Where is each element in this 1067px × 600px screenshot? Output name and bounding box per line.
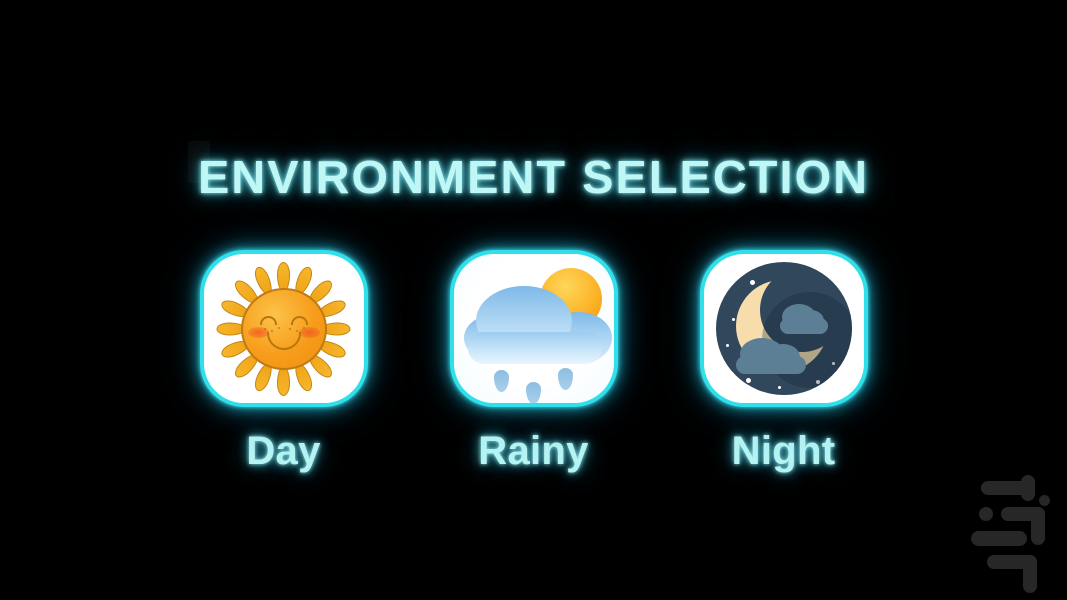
environment-selection-screen: ENVIRONMENT SELECTION	[0, 0, 1067, 600]
page-title: ENVIRONMENT SELECTION	[0, 150, 1067, 204]
sun-icon	[204, 254, 364, 403]
environment-option-rainy[interactable]: Rainy	[450, 250, 618, 474]
store-logo-watermark	[965, 475, 1057, 595]
day-tile-button[interactable]	[200, 250, 368, 407]
environment-options-row: Day Rainy	[0, 250, 1067, 474]
night-tile-button[interactable]	[700, 250, 868, 407]
raindrop	[558, 368, 573, 390]
night-label: Night	[732, 429, 836, 474]
raindrop	[494, 370, 509, 392]
environment-option-night[interactable]: Night	[700, 250, 868, 474]
rain-cloud-icon	[454, 254, 614, 403]
day-label: Day	[246, 429, 320, 474]
environment-option-day[interactable]: Day	[200, 250, 368, 474]
moon-stars-icon	[704, 254, 864, 403]
rainy-label: Rainy	[478, 429, 588, 474]
rainy-tile-button[interactable]	[450, 250, 618, 407]
sun-face	[241, 288, 327, 370]
raindrop	[526, 382, 541, 403]
